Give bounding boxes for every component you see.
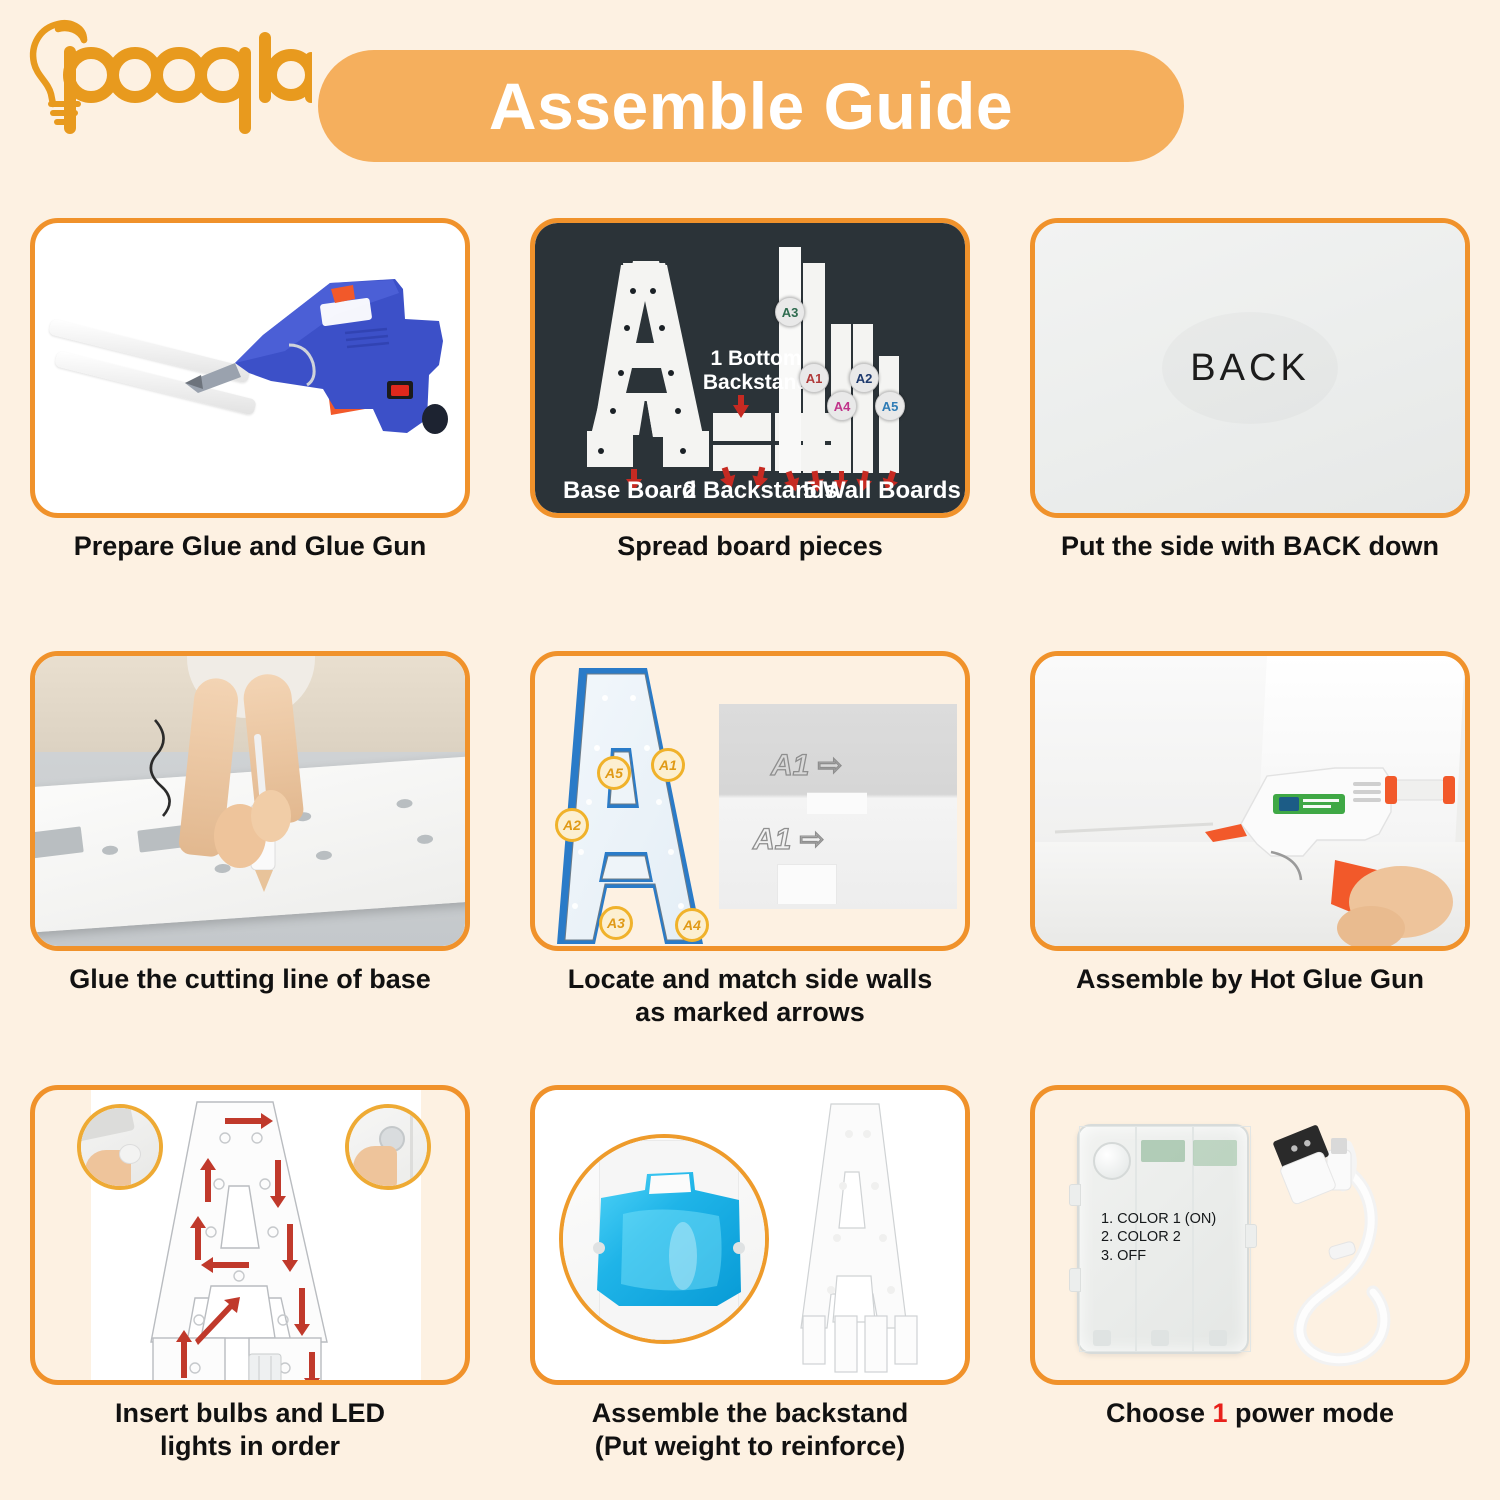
step-card-2: 1 Bottom Backstand A3 A1 A4 A2 A5 Base B… <box>500 200 1000 633</box>
inset-water-weight <box>559 1134 769 1344</box>
step-card-1: Prepare Glue and Glue Gun <box>0 200 500 633</box>
arrow-right-icon-1: ⇨ <box>817 748 842 783</box>
step-1-caption: Prepare Glue and Glue Gun <box>20 530 480 563</box>
side-wall-match-diagram: A1 A2 A3 A4 A5 A1 ⇨ A1 ⇨ <box>535 656 965 946</box>
step-2-caption: Spread board pieces <box>520 530 980 563</box>
power-mode-3: 3. OFF <box>1101 1247 1216 1266</box>
step-card-4: Glue the cutting line of base <box>0 633 500 1066</box>
power-mode-2: 2. COLOR 2 <box>1101 1228 1216 1247</box>
step-5-caption: Locate and match side walls as marked ar… <box>520 963 980 1029</box>
board-pieces-diagram: 1 Bottom Backstand A3 A1 A4 A2 A5 Base B… <box>535 223 965 513</box>
bottom-backstand-label: 1 Bottom Backstand <box>701 347 811 394</box>
step-7-caption-line2: lights in order <box>160 1431 340 1461</box>
back-board-photo: BACK <box>1035 223 1465 513</box>
step-7-image-frame <box>30 1085 470 1385</box>
wall-boards-label: 5 Wall Boards <box>803 477 961 505</box>
power-mode-1: 1. COLOR 1 (ON) <box>1101 1210 1216 1229</box>
wall-board-badge-a1: A1 <box>799 363 829 393</box>
step-card-5: A1 A2 A3 A4 A5 A1 ⇨ A1 ⇨ <box>500 633 1000 1066</box>
step-8-caption-line1: Assemble the backstand <box>592 1398 909 1428</box>
back-text: BACK <box>1190 347 1309 390</box>
back-label-area: BACK <box>1162 312 1338 424</box>
lightbulb-icon <box>22 18 312 136</box>
page-title: Assemble Guide <box>489 73 1013 139</box>
base-board-label: Base Board <box>563 477 696 505</box>
backstand-weight-photo <box>535 1090 965 1380</box>
step-5-caption-line1: Locate and match side walls <box>568 964 933 994</box>
inset-hand-inserting-bulb <box>77 1104 163 1190</box>
title-banner: Assemble Guide <box>318 50 1184 162</box>
step-7-caption-line1: Insert bulbs and LED <box>115 1398 385 1428</box>
mark-a1-lower: A1 <box>753 823 791 857</box>
step-5-image-frame: A1 A2 A3 A4 A5 A1 ⇨ A1 ⇨ <box>530 651 970 951</box>
step-8-caption-line2: (Put weight to reinforce) <box>595 1431 906 1461</box>
battery-box: 1. COLOR 1 (ON) 2. COLOR 2 3. OFF <box>1077 1124 1249 1354</box>
step-2-image-frame: 1 Bottom Backstand A3 A1 A4 A2 A5 Base B… <box>530 218 970 518</box>
assemble-guide-page: Assemble Guide <box>0 0 1500 1500</box>
step-6-image-frame <box>1030 651 1470 951</box>
step-9-caption-suffix: power mode <box>1228 1398 1395 1428</box>
step-9-image-frame: 1. COLOR 1 (ON) 2. COLOR 2 3. OFF <box>1030 1085 1470 1385</box>
step-4-caption: Glue the cutting line of base <box>20 963 480 996</box>
step-3-caption: Put the side with BACK down <box>1020 530 1480 563</box>
steps-grid: Prepare Glue and Glue Gun <box>0 200 1500 1500</box>
glue-gun-photo <box>35 223 465 513</box>
step-1-image-frame <box>30 218 470 518</box>
step-7-caption: Insert bulbs and LED lights in order <box>20 1397 480 1463</box>
step-8-image-frame <box>530 1085 970 1385</box>
usb-cable <box>1251 1116 1451 1376</box>
brand-logo <box>22 18 312 136</box>
gluing-base-photo <box>35 656 465 946</box>
inset-hand-tightening-bulb <box>345 1104 431 1190</box>
step-6-caption: Assemble by Hot Glue Gun <box>1020 963 1480 996</box>
step-card-9: 1. COLOR 1 (ON) 2. COLOR 2 3. OFF <box>1000 1067 1500 1500</box>
step-card-3: BACK Put the side with BACK down <box>1000 200 1500 633</box>
power-mode-photo: 1. COLOR 1 (ON) 2. COLOR 2 3. OFF <box>1035 1090 1465 1380</box>
mode-switch-knob[interactable] <box>1093 1142 1131 1180</box>
step-9-caption: Choose 1 power mode <box>1020 1397 1480 1430</box>
arrow-right-icon-2: ⇨ <box>799 822 824 857</box>
power-mode-list: 1. COLOR 1 (ON) 2. COLOR 2 3. OFF <box>1101 1210 1216 1266</box>
wall-board-badge-a4: A4 <box>827 391 857 421</box>
mark-a1-upper: A1 <box>771 749 809 783</box>
hot-glue-assembly-photo <box>1035 656 1465 946</box>
page-header: Assemble Guide <box>0 0 1500 200</box>
step-card-6: Assemble by Hot Glue Gun <box>1000 633 1500 1066</box>
wall-marking-photo: A1 ⇨ A1 ⇨ <box>719 704 957 909</box>
step-4-image-frame <box>30 651 470 951</box>
bulb-insert-diagram <box>35 1090 465 1380</box>
wall-board-badge-a2: A2 <box>849 363 879 393</box>
wall-board-badge-a3: A3 <box>775 297 805 327</box>
step-8-caption: Assemble the backstand (Put weight to re… <box>520 1397 980 1463</box>
wall-board-badge-a5: A5 <box>875 391 905 421</box>
step-card-8: Assemble the backstand (Put weight to re… <box>500 1067 1000 1500</box>
step-9-caption-number: 1 <box>1212 1398 1227 1428</box>
step-3-image-frame: BACK <box>1030 218 1470 518</box>
step-5-caption-line2: as marked arrows <box>635 997 865 1027</box>
step-9-caption-prefix: Choose <box>1106 1398 1213 1428</box>
step-card-7: Insert bulbs and LED lights in order <box>0 1067 500 1500</box>
power-cord <box>151 720 170 816</box>
